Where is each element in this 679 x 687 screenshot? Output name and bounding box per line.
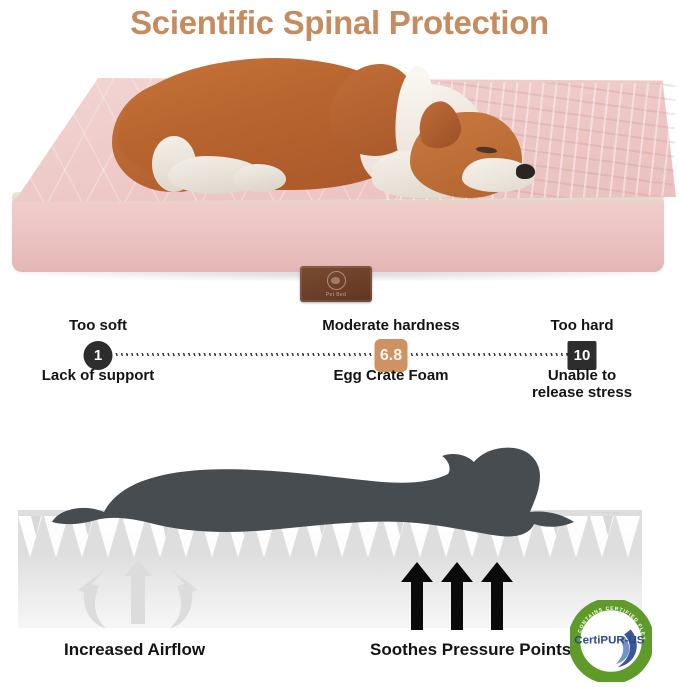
label-soothes-pressure-points: Soothes Pressure Points bbox=[370, 640, 571, 660]
pressure-arrows bbox=[401, 562, 513, 630]
hardness-scale: Too soft 1 Lack of support Moderate hard… bbox=[0, 305, 679, 410]
scale-badge-1: 1 bbox=[84, 341, 113, 370]
certipur-us-badge: CONTAINS CERTIFIED FLEXIBLE POLYURETHANE… bbox=[570, 600, 652, 682]
scale-subcaption-line-1: Unable to bbox=[548, 367, 616, 384]
corgi-dog bbox=[0, 50, 679, 295]
scale-node-subcaption: Unable to release stress bbox=[532, 367, 632, 401]
label-increased-airflow: Increased Airflow bbox=[64, 640, 205, 660]
scale-subcaption-line-2: release stress bbox=[532, 384, 632, 401]
scale-badge-10: 10 bbox=[568, 341, 597, 370]
badge-brand-text: CertiPUR-US bbox=[574, 634, 644, 646]
scale-node-caption: Too hard bbox=[550, 317, 613, 334]
scale-node-caption: Moderate hardness bbox=[322, 317, 460, 334]
product-photo: Pet Bed bbox=[0, 50, 679, 295]
dog-nose bbox=[516, 164, 535, 179]
scale-node-subcaption: Egg Crate Foam bbox=[333, 367, 448, 384]
dog-rear-paw bbox=[234, 164, 286, 192]
scale-node-subcaption: Lack of support bbox=[42, 367, 155, 384]
scale-dotted-line bbox=[106, 353, 578, 356]
page-title: Scientific Spinal Protection bbox=[0, 0, 679, 46]
scale-node-caption: Too soft bbox=[69, 317, 127, 334]
